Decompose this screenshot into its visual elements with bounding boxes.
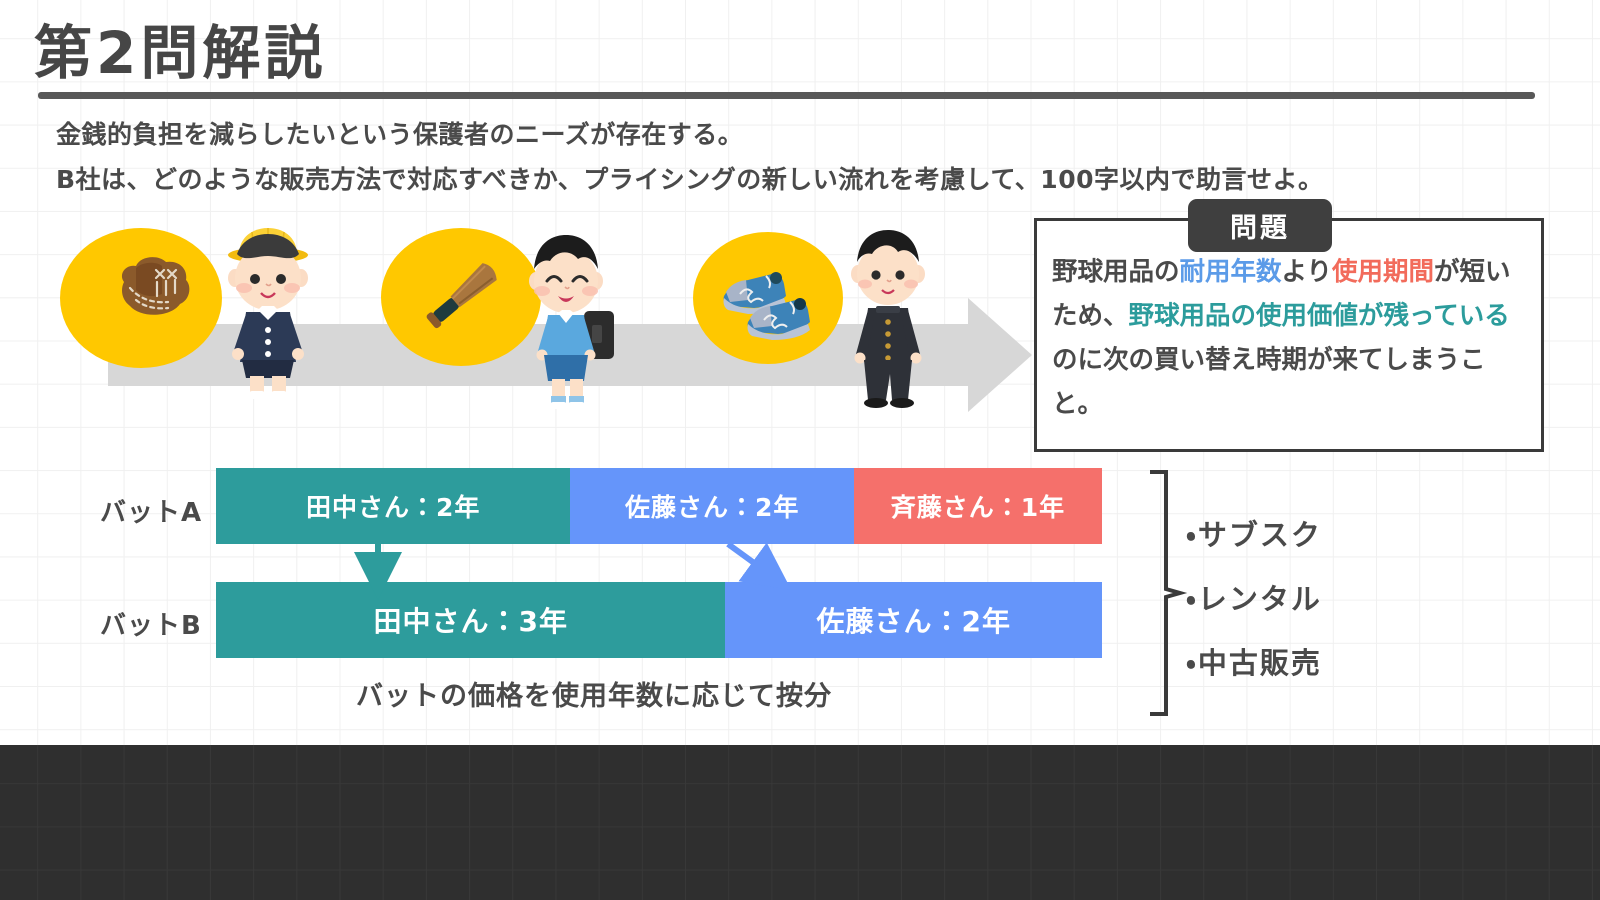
problem-seg-2: より — [1282, 257, 1333, 287]
slide-canvas: 第2問解説 金銭的負担を減らしたいという保護者のニーズが存在する。 B社は、どの… — [0, 0, 1600, 900]
bar-segment-a-sato: 佐藤さん：2年 — [570, 468, 854, 544]
problem-seg-residual-value: 野球用品の使用価値が残っている — [1129, 301, 1510, 331]
high-school-boy-figure — [848, 228, 936, 410]
intro-line-1: 金銭的負担を減らしたいという保護者のニーズが存在する。 — [56, 115, 743, 151]
bar-segment-a-sato-label: 佐藤さん：2年 — [625, 488, 799, 524]
elementary-boy-figure — [222, 226, 314, 402]
problem-seg-usage-period: 使用期間 — [1332, 257, 1434, 287]
bar-segment-b-sato-label: 佐藤さん：2年 — [816, 600, 1010, 640]
bar-segment-b-tanaka: 田中さん：3年 — [216, 582, 725, 658]
baseball-bat-illustration — [412, 245, 516, 349]
bar-segment-b-tanaka-label: 田中さん：3年 — [373, 600, 567, 640]
title-underline-rule — [38, 92, 1535, 99]
page-title: 第2問解説 — [34, 6, 326, 90]
bar-segment-a-saito: 斉藤さん：1年 — [854, 468, 1102, 544]
bar-label-bat-a: バットA — [100, 492, 202, 529]
bar-segment-a-saito-label: 斉藤さん：1年 — [891, 488, 1065, 524]
problem-tab-label: 問題 — [1188, 199, 1332, 252]
middle-school-boy-figure — [522, 233, 618, 411]
problem-statement: 野球用品の耐用年数より使用期間が短いため、野球用品の使用価値が残っているのに次の… — [1052, 250, 1532, 426]
options-list: ・サブスク ・レンタル ・中古販売 — [1186, 512, 1322, 704]
problem-seg-0: 野球用品の — [1052, 257, 1180, 287]
footer-band — [0, 745, 1600, 900]
elementary-boy-illustration — [100, 248, 220, 360]
bar-segment-a-tanaka: 田中さん：2年 — [216, 468, 570, 544]
sneakers-illustration — [714, 252, 826, 352]
option-item-subscription: ・サブスク — [1186, 512, 1322, 554]
bar-row-bat-b: 田中さん：3年 佐藤さん：2年 — [216, 582, 1102, 658]
bar-label-bat-b: バットB — [100, 605, 202, 642]
problem-seg-6: のに次の買い替え時期が来てしまうこと。 — [1052, 345, 1486, 419]
option-item-rental: ・レンタル — [1186, 576, 1322, 618]
bar-segment-a-tanaka-label: 田中さん：2年 — [306, 488, 480, 524]
connector-arrow-sato — [728, 544, 772, 576]
proration-caption: バットの価格を使用年数に応じて按分 — [356, 674, 832, 713]
intro-line-2: B社は、どのような販売方法で対応すべきか、プライシングの新しい流れを考慮して、1… — [56, 160, 1324, 196]
problem-seg-durability-years: 耐用年数 — [1180, 257, 1282, 287]
growth-timeline-arrow-head — [968, 298, 1032, 412]
bar-row-bat-a: 田中さん：2年 佐藤さん：2年 斉藤さん：1年 — [216, 468, 1102, 544]
option-item-used-sales: ・中古販売 — [1186, 640, 1322, 682]
bar-segment-b-sato: 佐藤さん：2年 — [725, 582, 1102, 658]
